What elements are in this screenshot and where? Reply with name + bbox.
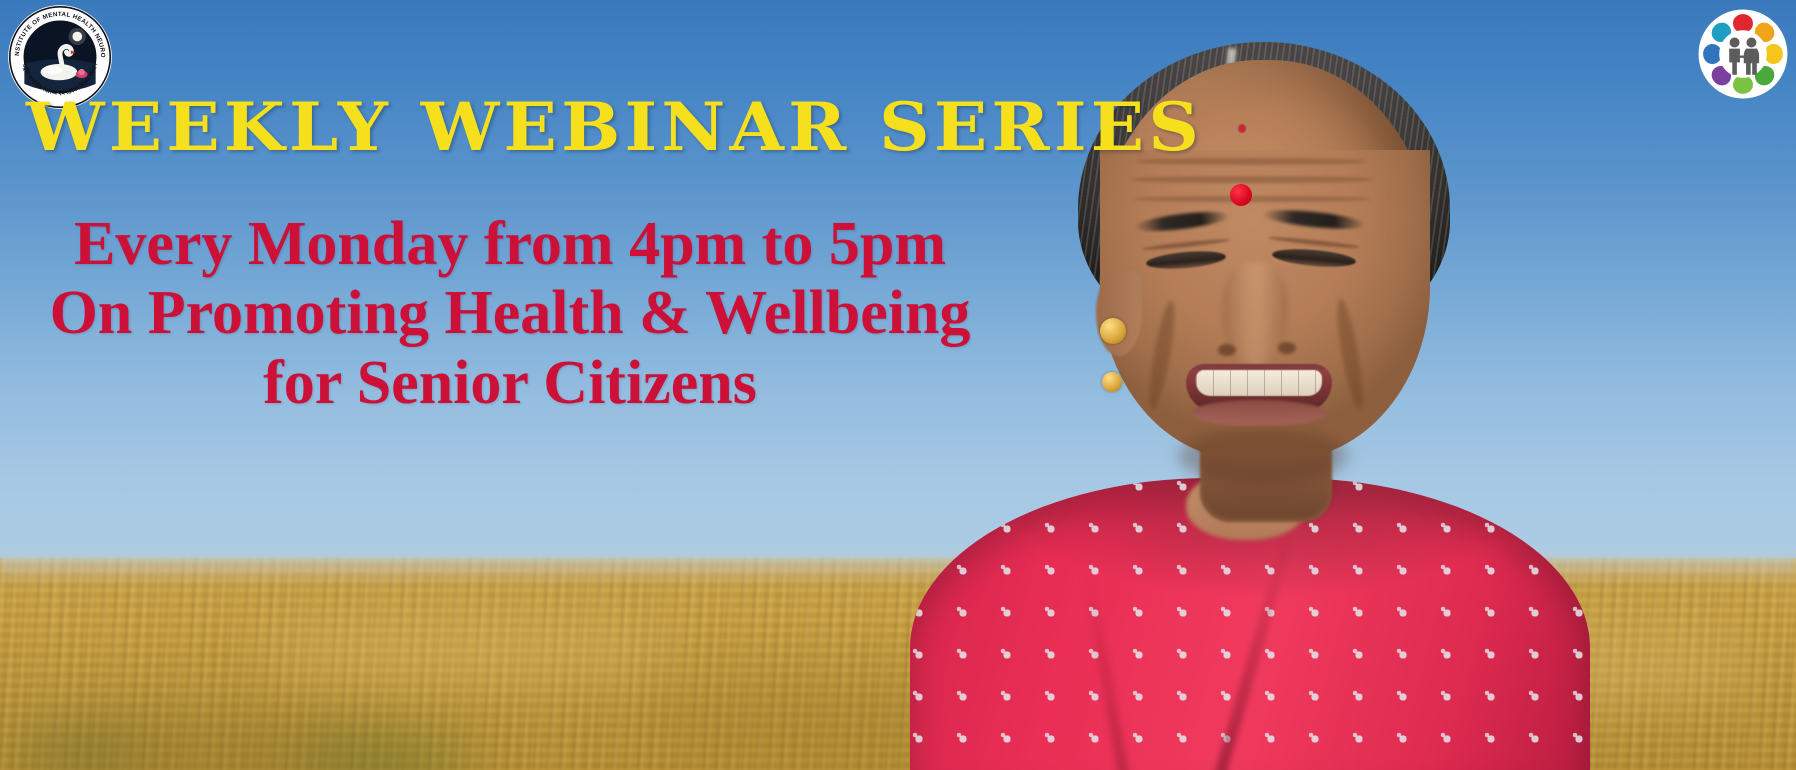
- lower-lip: [1190, 400, 1326, 426]
- nostril-left: [1218, 344, 1236, 356]
- ear-left: [1096, 270, 1142, 356]
- nostril-right: [1278, 342, 1296, 354]
- page-title: WEEKLY WEBINAR SERIES: [26, 88, 1203, 166]
- detail-line-schedule: Every Monday from 4pm to 5pm: [0, 210, 1020, 279]
- helping-hands-logo: [1697, 8, 1789, 100]
- bindi: [1230, 184, 1252, 206]
- detail-line-topic: On Promoting Health & Wellbeing: [0, 279, 1020, 348]
- teeth-gaps: [1196, 370, 1322, 396]
- webinar-banner: NATIONAL INSTITUTE OF MENTAL HEALTH NEUR…: [0, 0, 1796, 770]
- earring-lower: [1102, 372, 1122, 392]
- forehead-wrinkle: [1130, 176, 1374, 183]
- field-patch: [260, 618, 680, 688]
- earring-upper: [1100, 318, 1126, 344]
- vermilion-mark: [1238, 124, 1246, 133]
- chin-shadow: [1178, 428, 1348, 484]
- webinar-details: Every Monday from 4pm to 5pm On Promotin…: [0, 210, 1020, 418]
- detail-line-audience: for Senior Citizens: [0, 349, 1020, 418]
- forehead-wrinkle: [1134, 196, 1370, 202]
